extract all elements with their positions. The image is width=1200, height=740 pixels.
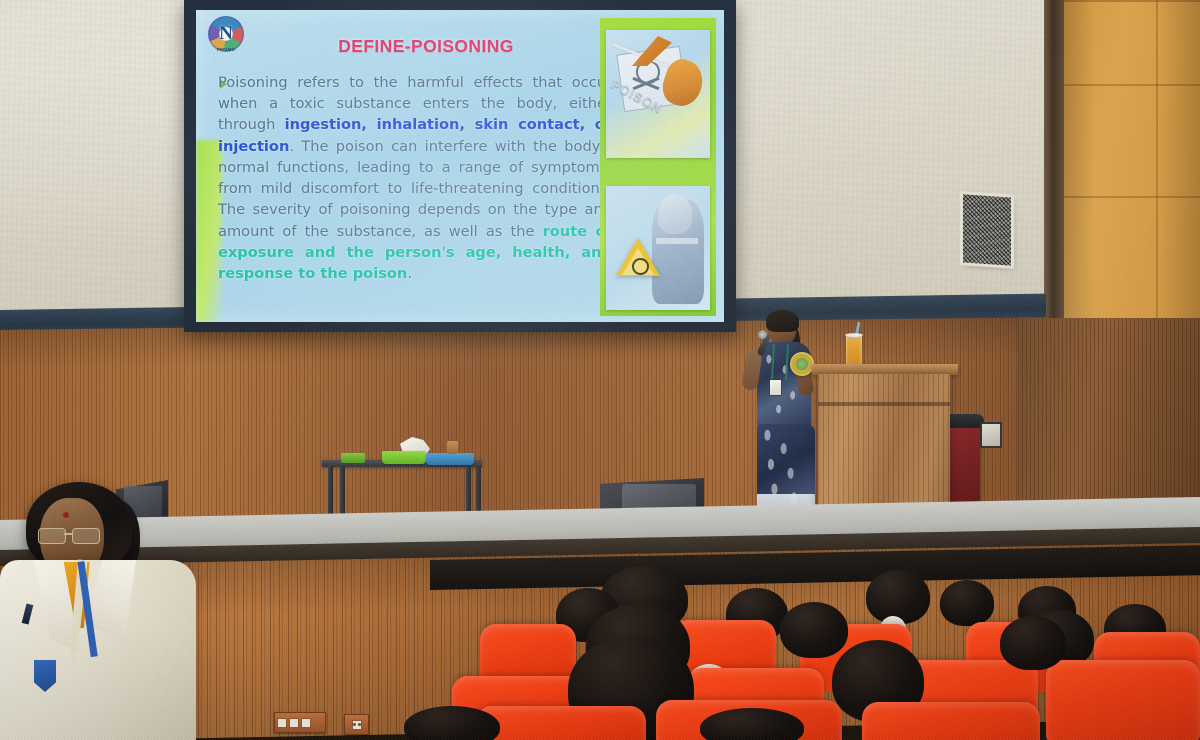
biohazard-warning-illustration <box>606 186 710 310</box>
presenter-hair <box>766 310 799 332</box>
audience-head <box>700 708 804 740</box>
protective-hood <box>658 194 692 234</box>
auditorium-seat[interactable] <box>476 706 646 740</box>
lecture-hall-photo: N PMVMC DEFINE-POISONING Poisoning refer… <box>0 0 1200 740</box>
audience-head <box>780 602 848 658</box>
green-tray <box>382 451 426 464</box>
wall-switch[interactable] <box>277 718 287 728</box>
audience-head <box>1000 616 1066 670</box>
bindi <box>63 512 69 518</box>
eyeglasses-icon <box>38 528 108 542</box>
ventilation-grille-mesh <box>963 194 1011 265</box>
auditorium-seat[interactable] <box>862 702 1040 740</box>
blue-tray <box>426 453 474 465</box>
presenter-id-badge <box>770 380 781 395</box>
power-socket[interactable] <box>352 720 362 730</box>
slide-body-text: Poisoning refers to the harmful effects … <box>218 72 612 284</box>
poison-sign-illustration: POISON <box>606 30 710 158</box>
biohazard-symbol-icon <box>632 258 649 275</box>
institution-logo-subtext: PMVMC <box>208 47 244 52</box>
single-socket-plate[interactable] <box>344 714 369 735</box>
small-green-tray <box>341 453 365 463</box>
audience-head <box>404 706 500 740</box>
triple-switch-plate[interactable] <box>274 712 326 733</box>
projection-screen: N PMVMC DEFINE-POISONING Poisoning refer… <box>196 10 724 322</box>
protective-suit-strap <box>656 238 698 244</box>
microphone-capsule <box>758 330 767 339</box>
audience-head <box>866 570 930 624</box>
slide-title: DEFINE-POISONING <box>256 36 596 57</box>
wall-switch[interactable] <box>301 718 311 728</box>
podium-shelf-line <box>818 402 950 406</box>
memento-award-center <box>796 358 808 370</box>
auditorium-seat[interactable] <box>1046 660 1200 740</box>
wall-switch[interactable] <box>289 718 299 728</box>
juice-glass-rim <box>845 333 863 337</box>
audience-head <box>940 580 994 626</box>
socket-pin <box>353 723 356 726</box>
tile-wall-shading <box>1060 0 1200 330</box>
wall-corner-seam <box>1044 0 1064 332</box>
juice-glass <box>846 334 862 366</box>
brown-cup <box>447 441 458 454</box>
eyeglass-lens <box>38 528 66 544</box>
eyeglass-lens <box>72 528 100 544</box>
socket-pin <box>358 723 361 726</box>
wall-mounted-box <box>982 424 1000 446</box>
presenter-lanyard <box>771 344 789 381</box>
slide-body-segment: . <box>407 265 412 282</box>
eyeglass-bridge <box>64 533 73 535</box>
